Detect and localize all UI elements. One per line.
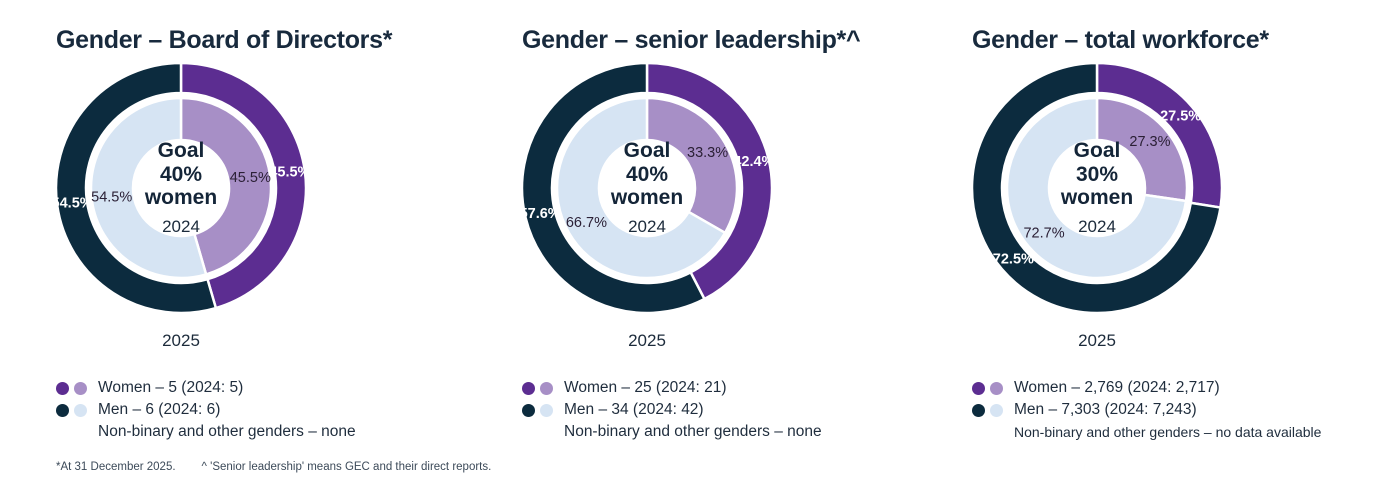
dot-women-2024-icon xyxy=(74,382,87,395)
donut-chart-total-workforce: 27.5%72.5%27.3%72.7% Goal 30% women 2024… xyxy=(972,63,1232,363)
outer-ring-year-label: 2025 xyxy=(522,331,772,351)
legend-label-women: Women – 2,769 (2024: 2,717) xyxy=(1014,380,1220,396)
footnotes: *At 31 December 2025. ^ 'Senior leadersh… xyxy=(56,461,491,473)
outer-label-women: 42.4% xyxy=(733,154,772,170)
inner-ring-2024 xyxy=(1007,98,1187,278)
dot-women-2025-icon xyxy=(56,382,69,395)
legend-item-nonbinary: Non-binary and other genders – none xyxy=(56,421,466,443)
dot-women-2024-icon xyxy=(990,382,1003,395)
legend-label-women: Women – 5 (2024: 5) xyxy=(98,380,243,396)
outer-label-men: 54.5% xyxy=(56,195,93,211)
dot-women-2024-icon xyxy=(540,382,553,395)
inner-label-women: 33.3% xyxy=(687,145,728,161)
dot-men-2024-icon xyxy=(74,404,87,417)
legend: Women – 5 (2024: 5) Men – 6 (2024: 6) No… xyxy=(56,377,466,443)
legend-label-women: Women – 25 (2024: 21) xyxy=(564,380,727,396)
dot-men-2025-icon xyxy=(56,404,69,417)
outer-label-men: 72.5% xyxy=(993,251,1034,267)
legend-swatches-women xyxy=(972,382,1014,395)
legend-item-women: Women – 25 (2024: 21) xyxy=(522,377,932,399)
chart-panel-senior-leadership: Gender – senior leadership*^ 42.4%57.6%3… xyxy=(466,0,932,443)
inner-ring-2024 xyxy=(91,98,271,278)
page-title: Gender – total workforce* xyxy=(972,26,1398,55)
donut-svg: 45.5%54.5%45.5%54.5% xyxy=(56,63,306,313)
legend-item-women: Women – 2,769 (2024: 2,717) xyxy=(972,377,1398,399)
page-title: Gender – senior leadership*^ xyxy=(522,26,932,55)
donut-svg: 42.4%57.6%33.3%66.7% xyxy=(522,63,772,313)
legend-label-nonbinary: Non-binary and other genders – none xyxy=(98,424,356,440)
outer-label-men: 57.6% xyxy=(522,206,561,222)
legend: Women – 25 (2024: 21) Men – 34 (2024: 42… xyxy=(522,377,932,443)
legend-swatches-men xyxy=(972,404,1014,417)
footnote-senior-leadership: ^ 'Senior leadership' means GEC and thei… xyxy=(202,461,492,473)
legend-swatches-men xyxy=(56,404,98,417)
chart-panel-total-workforce: Gender – total workforce* 27.5%72.5%27.3… xyxy=(932,0,1398,443)
gender-charts-container: Gender – Board of Directors* 45.5%54.5%4… xyxy=(0,0,1400,443)
legend-item-men: Men – 7,303 (2024: 7,243) xyxy=(972,399,1398,421)
outer-segment-men xyxy=(522,63,704,313)
outer-label-women: 45.5% xyxy=(269,164,306,180)
dot-women-2025-icon xyxy=(972,382,985,395)
donut-svg: 27.5%72.5%27.3%72.7% xyxy=(972,63,1222,313)
legend-item-men: Men – 6 (2024: 6) xyxy=(56,399,466,421)
legend-label-nonbinary: Non-binary and other genders – no data a… xyxy=(1014,425,1321,439)
donut-chart-board-of-directors: 45.5%54.5%45.5%54.5% Goal 40% women 2024… xyxy=(56,63,316,363)
footnote-date: *At 31 December 2025. xyxy=(56,461,176,473)
legend-item-men: Men – 34 (2024: 42) xyxy=(522,399,932,421)
legend-label-nonbinary: Non-binary and other genders – none xyxy=(564,424,822,440)
inner-label-women: 27.3% xyxy=(1129,134,1170,150)
legend-item-women: Women – 5 (2024: 5) xyxy=(56,377,466,399)
dot-men-2024-icon xyxy=(990,404,1003,417)
donut-chart-senior-leadership: 42.4%57.6%33.3%66.7% Goal 40% women 2024… xyxy=(522,63,782,363)
inner-label-men: 54.5% xyxy=(91,190,132,206)
outer-ring-year-label: 2025 xyxy=(972,331,1222,351)
inner-label-men: 72.7% xyxy=(1023,226,1064,242)
legend-swatches-men xyxy=(522,404,564,417)
legend-item-nonbinary: Non-binary and other genders – none xyxy=(522,421,932,443)
legend-swatches-women xyxy=(56,382,98,395)
page-title: Gender – Board of Directors* xyxy=(56,26,466,55)
inner-ring-2024 xyxy=(557,98,737,278)
legend-item-nonbinary: Non-binary and other genders – no data a… xyxy=(972,421,1398,443)
chart-panel-board-of-directors: Gender – Board of Directors* 45.5%54.5%4… xyxy=(0,0,466,443)
legend: Women – 2,769 (2024: 2,717) Men – 7,303 … xyxy=(972,377,1398,443)
dot-men-2025-icon xyxy=(972,404,985,417)
outer-ring-year-label: 2025 xyxy=(56,331,306,351)
dot-men-2024-icon xyxy=(540,404,553,417)
inner-label-men: 66.7% xyxy=(566,215,607,231)
legend-label-men: Men – 34 (2024: 42) xyxy=(564,402,704,418)
dot-women-2025-icon xyxy=(522,382,535,395)
outer-label-women: 27.5% xyxy=(1160,108,1201,124)
legend-label-men: Men – 7,303 (2024: 7,243) xyxy=(1014,402,1197,418)
legend-label-men: Men – 6 (2024: 6) xyxy=(98,402,220,418)
dot-men-2025-icon xyxy=(522,404,535,417)
legend-swatches-women xyxy=(522,382,564,395)
inner-label-women: 45.5% xyxy=(230,170,271,186)
